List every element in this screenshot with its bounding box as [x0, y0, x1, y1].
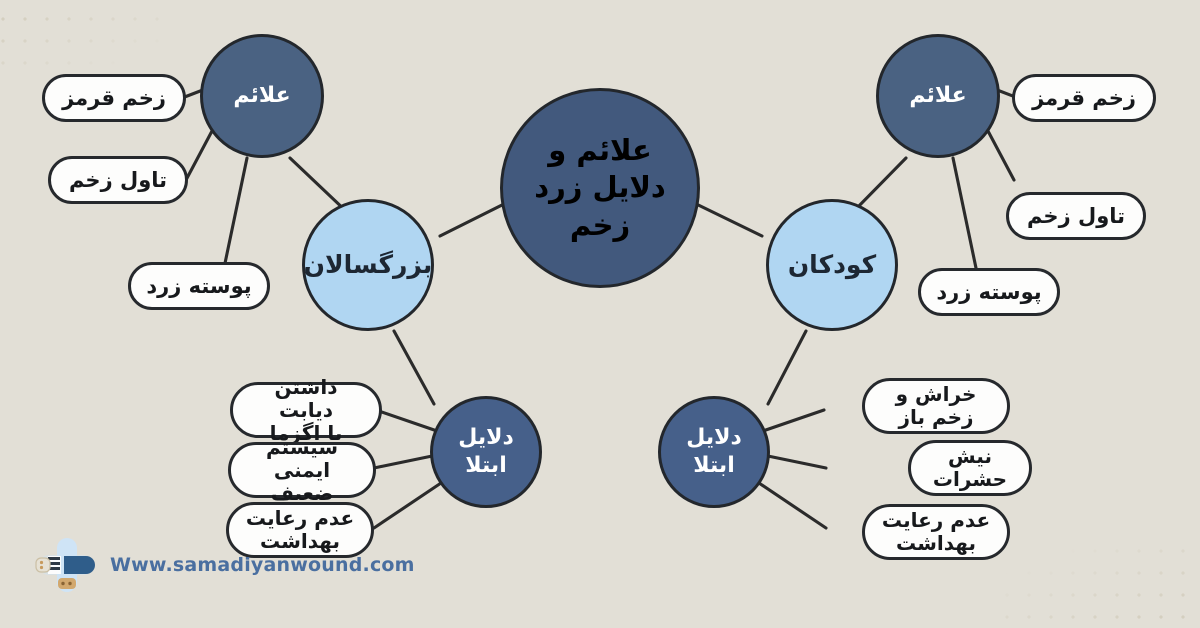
branch-node-children-label: کودکان	[782, 249, 882, 281]
node-children-symptoms-label: علائم	[903, 82, 972, 110]
node-children-symptoms[interactable]: علائم	[876, 34, 1000, 158]
pill-children-symptom-2[interactable]: تاول زخم	[1006, 192, 1146, 240]
branch-node-adults[interactable]: بزرگسالان	[302, 199, 434, 331]
link-causes-l-3	[374, 481, 444, 528]
root-node-symptoms-and-causes[interactable]: علائم و دلایل زرد زخم	[500, 88, 700, 288]
node-adults-causes-label: دلایل ابتلا	[433, 424, 539, 480]
pill-adults-cause-2[interactable]: سیستم ایمنی ضعیف	[228, 442, 376, 498]
link-causes-r-3	[756, 481, 826, 528]
pill-adults-symptom-1[interactable]: زخم قرمز	[42, 74, 186, 122]
infographic-canvas: علائم و دلایل زرد زخم بزرگسالان علائم دل…	[0, 0, 1200, 628]
pill-children-cause-3[interactable]: عدم رعایت بهداشت	[862, 504, 1010, 560]
node-adults-causes[interactable]: دلایل ابتلا	[430, 396, 542, 508]
link-causes-l-2	[374, 455, 437, 468]
node-children-causes-label: دلایل ابتلا	[661, 424, 767, 480]
pill-adults-symptom-2[interactable]: تاول زخم	[48, 156, 188, 204]
link-adults-causes	[394, 331, 434, 404]
node-adults-symptoms-label: علائم	[227, 82, 296, 110]
link-symptoms-r-3	[953, 158, 976, 268]
pill-adults-cause-1[interactable]: داشتن دیابت یا اگزما	[230, 382, 382, 438]
link-root-children	[688, 200, 762, 236]
link-causes-r-2	[763, 455, 826, 468]
footer-brand: Www.samadiyanwound.com	[34, 536, 415, 594]
node-adults-symptoms[interactable]: علائم	[200, 34, 324, 158]
bandage-capsule-logo-icon	[34, 536, 98, 594]
branch-node-adults-label: بزرگسالان	[298, 249, 439, 281]
footer-website-url[interactable]: Www.samadiyanwound.com	[110, 554, 415, 576]
link-causes-r-1	[760, 410, 824, 432]
link-causes-l-1	[376, 410, 440, 432]
branch-node-children[interactable]: کودکان	[766, 199, 898, 331]
pill-adults-symptom-3[interactable]: پوسته زرد	[128, 262, 270, 310]
link-symptoms-r-2	[988, 131, 1014, 180]
link-symptoms-l-3	[224, 158, 247, 268]
pill-children-symptom-1[interactable]: زخم قرمز	[1012, 74, 1156, 122]
link-symptoms-l-2	[186, 131, 212, 180]
pill-children-cause-1[interactable]: خراش و زخم باز	[862, 378, 1010, 434]
node-children-causes[interactable]: دلایل ابتلا	[658, 396, 770, 508]
link-children-causes	[768, 331, 806, 404]
pill-children-cause-2[interactable]: نیش حشرات	[908, 440, 1032, 496]
pill-children-symptom-3[interactable]: پوسته زرد	[918, 268, 1060, 316]
root-node-label: علائم و دلایل زرد زخم	[503, 132, 697, 243]
